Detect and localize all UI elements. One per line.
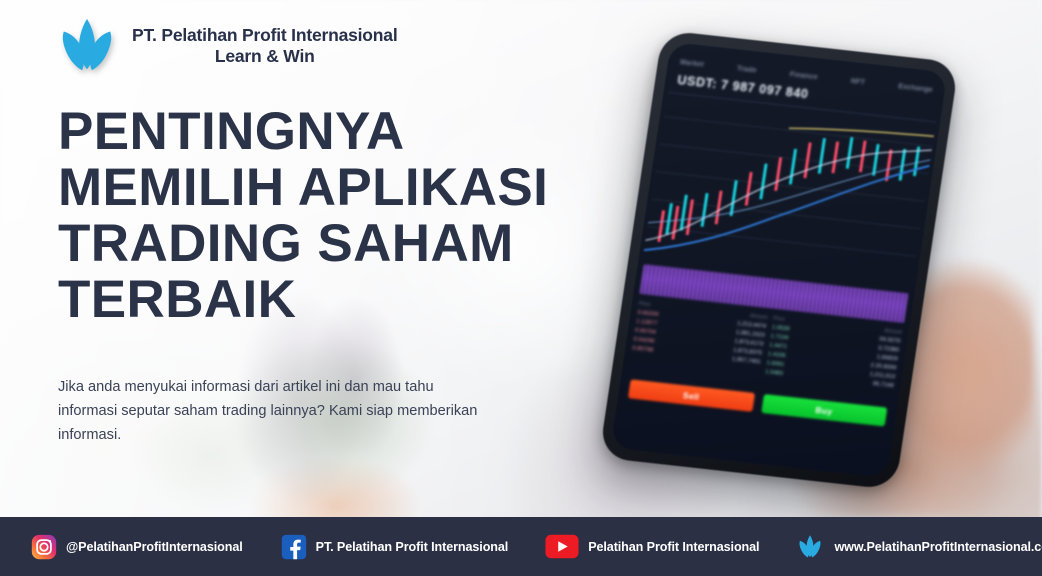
order-amount: 1,213,4474 — [737, 321, 767, 330]
order-amount: 1,873,8375 — [733, 347, 763, 356]
order-amount: 2.20.8399 — [870, 363, 897, 372]
order-price: 1.7134 — [770, 334, 789, 342]
phone-in-hand-photo: Market Trade Finance NFT Exchange USDT: … — [596, 0, 1042, 531]
lotus-icon — [56, 16, 118, 76]
nav-item-exchange: Exchange — [898, 83, 934, 94]
order-amount: 1,067,7491 — [731, 356, 761, 365]
footer-item-facebook[interactable]: PT. Pelatihan Profit Internasional — [281, 534, 509, 560]
page-title: PENTINGNYA MEMILIH APLIKASI TRADING SAHA… — [58, 104, 578, 328]
promo-poster: Market Trade Finance NFT Exchange USDT: … — [0, 0, 1042, 576]
brand-header: PT. Pelatihan Profit Internasional Learn… — [56, 16, 397, 76]
youtube-icon — [545, 534, 579, 559]
col-amount-label: Amount — [750, 313, 768, 321]
order-price: 1.12877 — [636, 319, 658, 327]
nav-item-nft: NFT — [850, 78, 865, 86]
order-amount: 3,72380 — [878, 345, 900, 353]
footer-item-website[interactable]: www.PelatihanProfitInternasional.com — [795, 534, 1042, 560]
order-price: 1.4471 — [769, 342, 788, 350]
order-book-sell-column: Price Amount 0.66209 1,213,4474 1.12877 … — [629, 301, 768, 387]
order-price: 1.0539 — [771, 325, 790, 333]
trading-app-screen: Market Trade Finance NFT Exchange USDT: … — [610, 42, 947, 478]
order-amount: 04.9270 — [879, 336, 901, 344]
order-price: 1.5483 — [765, 369, 784, 377]
nav-item-finance: Finance — [789, 71, 818, 81]
brand-name: PT. Pelatihan Profit Internasional — [132, 25, 397, 46]
nav-item-market: Market — [680, 59, 705, 69]
order-price: 0.80798 — [632, 345, 654, 353]
footer-label-instagram: @PelatihanProfitInternasional — [66, 540, 243, 554]
order-price: 0.66209 — [637, 310, 659, 318]
col-price-label: Price — [773, 316, 785, 323]
footer-item-youtube[interactable]: Pelatihan Profit Internasional — [545, 534, 759, 559]
order-book-buy-column: Price Amount 1.0539 04.9270 1.7134 3,723… — [763, 316, 902, 402]
order-amount: 1,211,013 — [869, 372, 895, 381]
col-price-label: Price — [639, 301, 651, 308]
footer-item-instagram[interactable]: @PelatihanProfitInternasional — [31, 534, 243, 560]
order-amount: 1,873,6173 — [734, 339, 764, 348]
order-price: 0.66704 — [635, 328, 657, 336]
brand-tagline: Learn & Win — [132, 46, 397, 67]
nav-item-trade: Trade — [736, 65, 757, 74]
candlestick-chart — [642, 92, 936, 292]
footer-label-youtube: Pelatihan Profit Internasional — [588, 540, 759, 554]
footer-label-facebook: PT. Pelatihan Profit Internasional — [316, 540, 509, 554]
lotus-icon — [795, 534, 825, 560]
order-amount: 96,7149 — [872, 381, 894, 389]
buy-button[interactable]: Buy — [761, 394, 888, 426]
order-amount: 1,66829 — [876, 354, 898, 362]
sell-button[interactable]: Sell — [628, 379, 755, 411]
smartphone: Market Trade Finance NFT Exchange USDT: … — [599, 30, 959, 490]
instagram-icon — [31, 534, 57, 560]
order-price: 1.6091 — [766, 360, 785, 368]
order-price: 0.64296 — [633, 336, 655, 344]
social-footer-bar: @PelatihanProfitInternasional PT. Pelati… — [0, 517, 1042, 576]
footer-label-website: www.PelatihanProfitInternasional.com — [834, 540, 1042, 554]
order-amount: 1,081,1523 — [735, 330, 765, 339]
body-paragraph: Jika anda menyukai informasi dari artike… — [58, 376, 478, 447]
facebook-icon — [281, 534, 307, 560]
order-price: 1.4106 — [767, 351, 786, 359]
brand-text-block: PT. Pelatihan Profit Internasional Learn… — [132, 25, 397, 68]
col-amount-label: Amount — [884, 328, 902, 336]
